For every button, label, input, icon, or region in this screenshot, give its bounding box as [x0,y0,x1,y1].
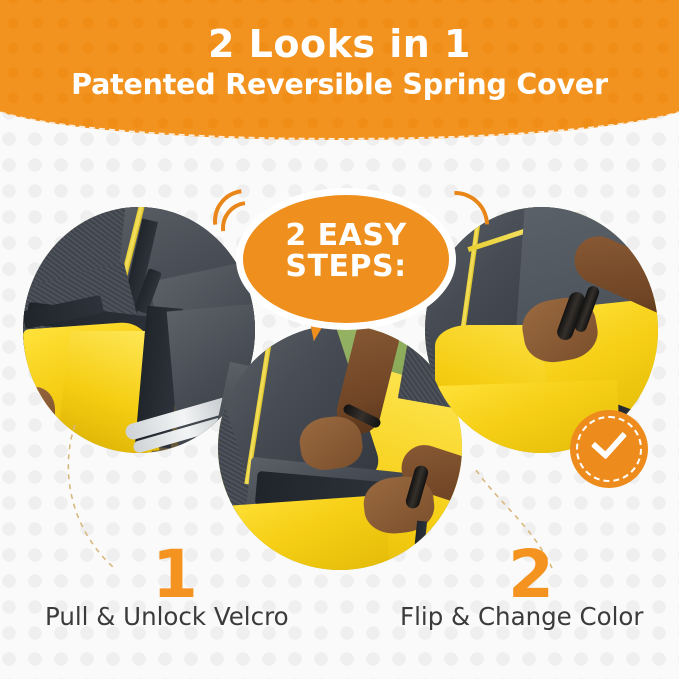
speech-bubble-text: 2 EASY STEPS: [243,221,449,282]
step-number-1: 1 [152,542,198,608]
step-caption-1: Pull & Unlock Velcro [45,605,289,630]
speech-bubble-tail-join [295,287,357,317]
page-subtitle: Patented Reversible Spring Cover [0,69,679,100]
speech-bubble-line-1: 2 EASY [243,221,449,252]
infographic-canvas: 2 Looks in 1 Patented Reversible Spring … [0,0,679,679]
speech-bubble: 2 EASY STEPS: [243,195,449,343]
step-number-2: 2 [508,542,554,608]
page-title: 2 Looks in 1 [0,25,679,65]
step-caption-2: Flip & Change Color [400,605,644,630]
header-banner: 2 Looks in 1 Patented Reversible Spring … [0,0,679,152]
speech-bubble-line-2: STEPS: [243,252,449,283]
header-text-block: 2 Looks in 1 Patented Reversible Spring … [0,0,679,100]
check-badge [570,410,648,488]
